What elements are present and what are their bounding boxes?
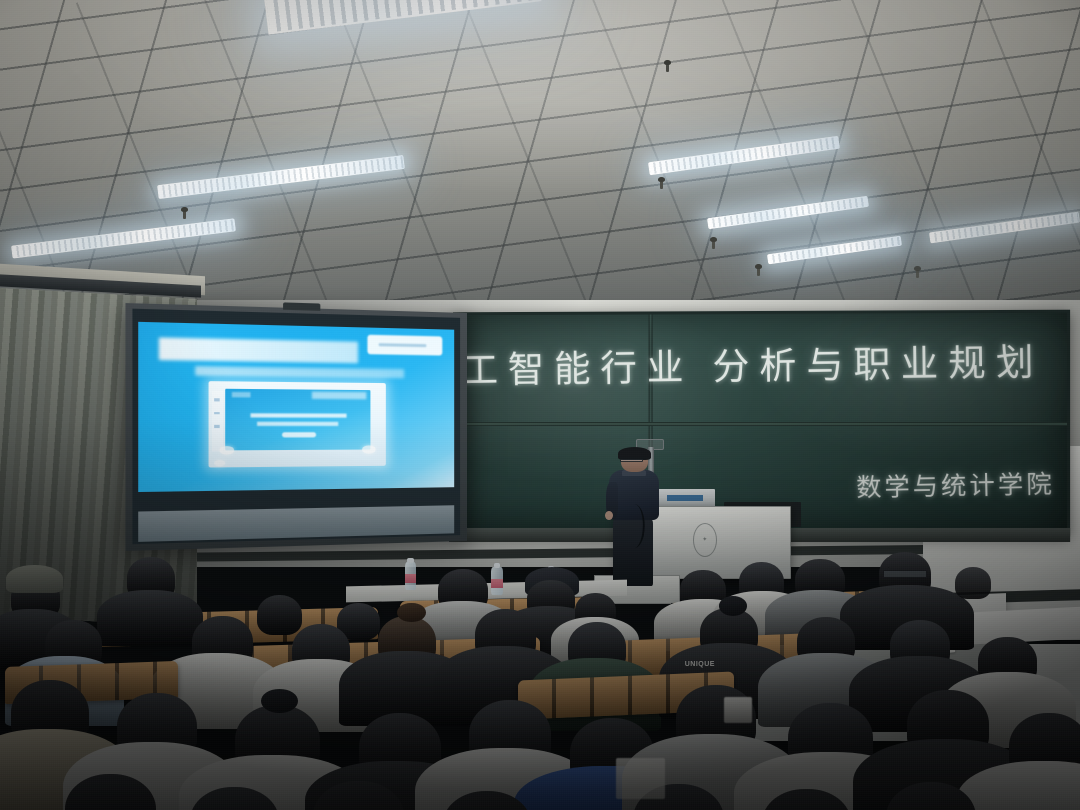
slide-screenshot-line-1 <box>251 413 347 418</box>
projection-screen <box>125 303 466 551</box>
sprinkler-1 <box>181 207 188 219</box>
slide-screenshot-window-title <box>231 392 250 397</box>
lecturer <box>607 449 661 587</box>
slide-screenshot-line-2 <box>257 422 338 426</box>
blackboard-title: 工智能行业 分析与职业规划 <box>462 331 1045 393</box>
audience-hair-bun <box>397 603 425 622</box>
handout-paper <box>616 758 666 799</box>
lecturer-hand <box>605 511 613 521</box>
sprinkler-4 <box>710 237 717 249</box>
slide-screenshot-marker-left <box>220 446 235 454</box>
projection-screen-tab[interactable] <box>283 302 320 310</box>
slide-screenshot-frame <box>209 380 386 467</box>
audience-hair-bun <box>261 689 298 713</box>
lecturer-glasses-icon <box>620 459 643 463</box>
slide-screenshot-marker-corner <box>214 460 225 466</box>
sprinkler-5 <box>755 264 762 276</box>
jacket-print-text: UNIQUE <box>685 661 715 668</box>
slide-title-bar <box>158 338 358 363</box>
water-bottle-2 <box>491 567 502 595</box>
slide-logo-badge <box>367 335 442 356</box>
water-bottle-1 <box>405 562 416 590</box>
slide-screenshot-button <box>282 432 317 438</box>
audience-head <box>257 595 302 636</box>
audience-hair-bun <box>719 596 747 615</box>
podium-seal: ✦ <box>693 523 717 557</box>
slide-subtitle-line <box>195 366 403 378</box>
slide-screenshot-window <box>225 388 370 450</box>
audience-cap <box>6 565 62 593</box>
slide-screenshot-sidebar <box>211 391 222 452</box>
projection-screen-surface <box>133 309 460 545</box>
blackboard-subtitle: 数学与统计学院 <box>856 465 1055 505</box>
lecture-hall-photo: 工智能行业 分析与职业规划 数学与统计学院 <box>0 0 1080 810</box>
sprinkler-3 <box>658 177 665 189</box>
sprinkler-6 <box>914 266 921 278</box>
handout-paper <box>724 697 752 723</box>
audience-head <box>955 567 992 599</box>
projection-screen-glare <box>138 505 454 542</box>
blackboard-divider-horizontal <box>456 422 1067 426</box>
observer-glasses-icon <box>883 570 926 577</box>
slide-screenshot-window-header <box>312 391 366 399</box>
slide-screenshot-marker-right <box>362 445 376 453</box>
sprinkler-2 <box>664 60 671 72</box>
audience-shoulder <box>97 590 203 647</box>
presentation-slide <box>138 322 454 491</box>
